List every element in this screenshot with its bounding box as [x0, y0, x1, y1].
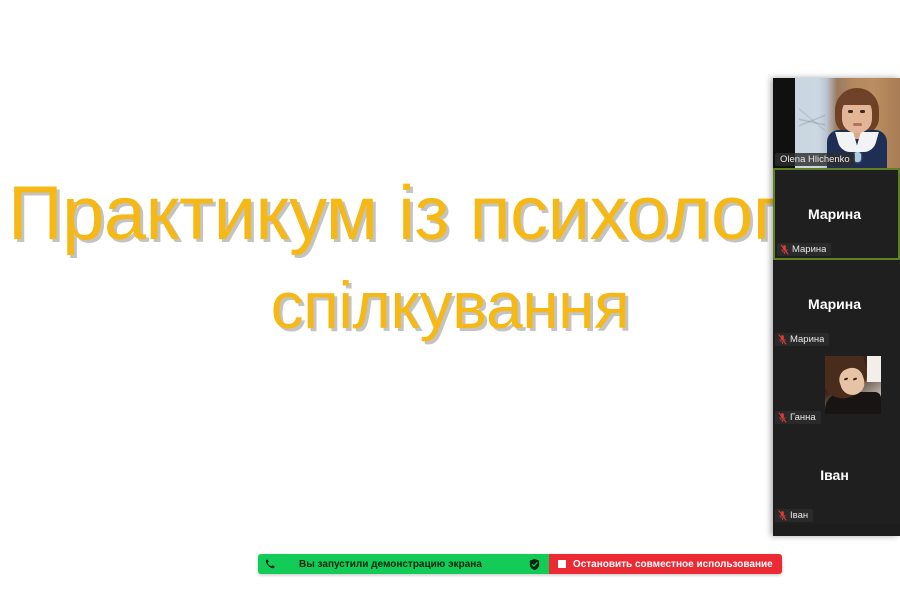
slide-title-line-1: Практикум із психологі [0, 176, 900, 252]
participant-placeholder-name: Іван [773, 467, 900, 483]
screen-share-bar[interactable]: Вы запустили демонстрацию экрана Останов… [258, 554, 782, 574]
participant-placeholder-name: Марина [773, 296, 900, 312]
participant-placeholder-name: Марина [775, 206, 898, 222]
participant-label-ivan: Іван [775, 509, 813, 522]
participant-name: Ганна [790, 412, 816, 423]
participant-tile-olena[interactable]: Olena Hlichenko [773, 78, 900, 168]
stop-square-icon [558, 560, 566, 568]
mic-muted-icon [778, 412, 787, 423]
stop-share-button-label: Остановить совместное использование [573, 559, 773, 570]
mic-muted-icon [778, 510, 787, 521]
mic-muted-icon [778, 334, 787, 345]
participant-tile-maryna-2[interactable]: Марина Марина [773, 260, 900, 348]
participant-tile-maryna-1[interactable]: Марина Марина [773, 168, 900, 260]
share-status-pill[interactable]: Вы запустили демонстрацию экрана [258, 554, 549, 574]
mic-muted-icon [780, 244, 789, 255]
shield-icon[interactable] [528, 558, 541, 571]
participant-label-hanna: Ганна [775, 411, 821, 424]
participant-tile-ivan[interactable]: Іван Іван [773, 426, 900, 524]
phone-handset-icon [264, 558, 277, 571]
participant-name: Марина [790, 334, 824, 345]
stop-share-button[interactable]: Остановить совместное использование [549, 554, 782, 574]
share-status-text: Вы запустили демонстрацию экрана [277, 559, 528, 570]
participant-filmstrip[interactable]: Olena Hlichenko Марина Марина Марина [773, 78, 900, 536]
participant-label-olena: Olena Hlichenko [775, 153, 855, 166]
participant-video-hanna [825, 356, 881, 414]
participant-name: Olena Hlichenko [780, 154, 850, 165]
screen: Практикум із психологі спілкування [0, 0, 900, 600]
shared-slide: Практикум із психологі спілкування [0, 0, 900, 545]
participant-label-maryna-2: Марина [775, 333, 829, 346]
participant-label-maryna-1: Марина [777, 243, 831, 256]
slide-title-line-2: спілкування [0, 272, 900, 338]
participant-name: Марина [792, 244, 826, 255]
participant-name: Іван [790, 510, 808, 521]
participant-tile-hanna[interactable]: Ганна [773, 348, 900, 426]
